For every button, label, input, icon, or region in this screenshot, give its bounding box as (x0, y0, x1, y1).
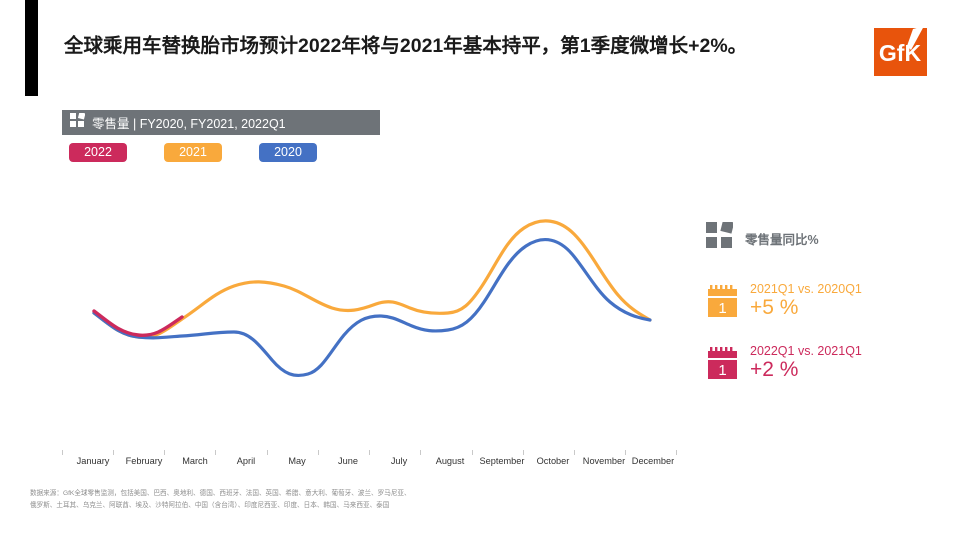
legend-badge-2020[interactable]: 2020 (259, 143, 317, 162)
legend-badge-2021[interactable]: 2021 (164, 143, 222, 162)
legend-badge-2022[interactable]: 2022 (69, 143, 127, 162)
x-axis-label-may: May (288, 456, 305, 466)
axis-tick (523, 450, 524, 455)
axis-tick (574, 450, 575, 455)
chart-legend: 2022 2021 2020 (69, 143, 369, 163)
axis-tick (676, 450, 677, 455)
x-axis-label-november: November (583, 456, 625, 466)
kpi-panel: 零售量同比% 1 2021Q1 vs. 2020Q1 +5 % (706, 222, 946, 397)
svg-text:1: 1 (718, 300, 726, 317)
gfk-logo: GfK (874, 28, 927, 76)
page-title: 全球乘用车替换胎市场预计2022年将与2021年基本持平，第1季度微增长+2%。 (64, 34, 854, 59)
chart-title-bar: 零售量 | FY2020, FY2021, 2022Q1 (62, 110, 380, 135)
x-axis: January February March April May June Ju… (62, 450, 677, 474)
x-axis-label-june: June (338, 456, 358, 466)
axis-tick (164, 450, 165, 455)
calendar-icon: 1 (706, 346, 739, 385)
x-axis-label-april: April (237, 456, 255, 466)
kpi-value: +5 % (750, 296, 798, 320)
kpi-label: 2021Q1 vs. 2020Q1 (750, 282, 862, 296)
kpi-value: +2 % (750, 358, 798, 382)
axis-tick (215, 450, 216, 455)
kpi-item-2022q1: 1 2022Q1 vs. 2021Q1 +2 % (706, 344, 946, 390)
x-axis-label-january: January (77, 456, 110, 466)
axis-tick (420, 450, 421, 455)
slide-root: 全球乘用车替换胎市场预计2022年将与2021年基本持平，第1季度微增长+2%。… (0, 0, 959, 539)
svg-text:GfK: GfK (879, 40, 922, 66)
x-axis-label-october: October (537, 456, 570, 466)
kpi-panel-title: 零售量同比% (745, 229, 819, 248)
x-axis-label-september: September (480, 456, 525, 466)
axis-tick (369, 450, 370, 455)
axis-tick (267, 450, 268, 455)
x-axis-label-december: December (632, 456, 674, 466)
axis-tick (625, 450, 626, 455)
axis-tick (113, 450, 114, 455)
grid-squares-icon (706, 222, 733, 254)
axis-tick (472, 450, 473, 455)
series-line-2020 (94, 240, 650, 376)
kpi-label: 2022Q1 vs. 2021Q1 (750, 344, 862, 358)
footnote: 数据来源：GfK全球零售监测，包括美国、巴西、奥地利、德国、西班牙、法国、英国、… (30, 488, 730, 511)
line-chart-plot (62, 180, 677, 455)
x-axis-label-july: July (391, 456, 407, 466)
chart-title-text: 零售量 | FY2020, FY2021, 2022Q1 (92, 113, 286, 132)
calendar-icon: 1 (706, 284, 739, 323)
axis-tick (318, 450, 319, 455)
x-axis-label-august: August (436, 456, 465, 466)
axis-tick (62, 450, 63, 455)
kpi-panel-header: 零售量同比% (706, 222, 819, 254)
series-line-2022 (94, 311, 182, 335)
grid-squares-icon (70, 113, 85, 133)
kpi-item-2021q1: 1 2021Q1 vs. 2020Q1 +5 % (706, 282, 946, 328)
x-axis-label-february: February (126, 456, 163, 466)
accent-bar (25, 0, 38, 96)
footnote-line-1: 数据来源：GfK全球零售监测，包括美国、巴西、奥地利、德国、西班牙、法国、英国、… (30, 488, 730, 500)
svg-text:1: 1 (718, 362, 726, 379)
footnote-line-2: 俄罗斯、土耳其、乌克兰、阿联酋、埃及、沙特阿拉伯、中国（含台湾）、印度尼西亚、印… (30, 500, 730, 512)
x-axis-label-march: March (182, 456, 208, 466)
